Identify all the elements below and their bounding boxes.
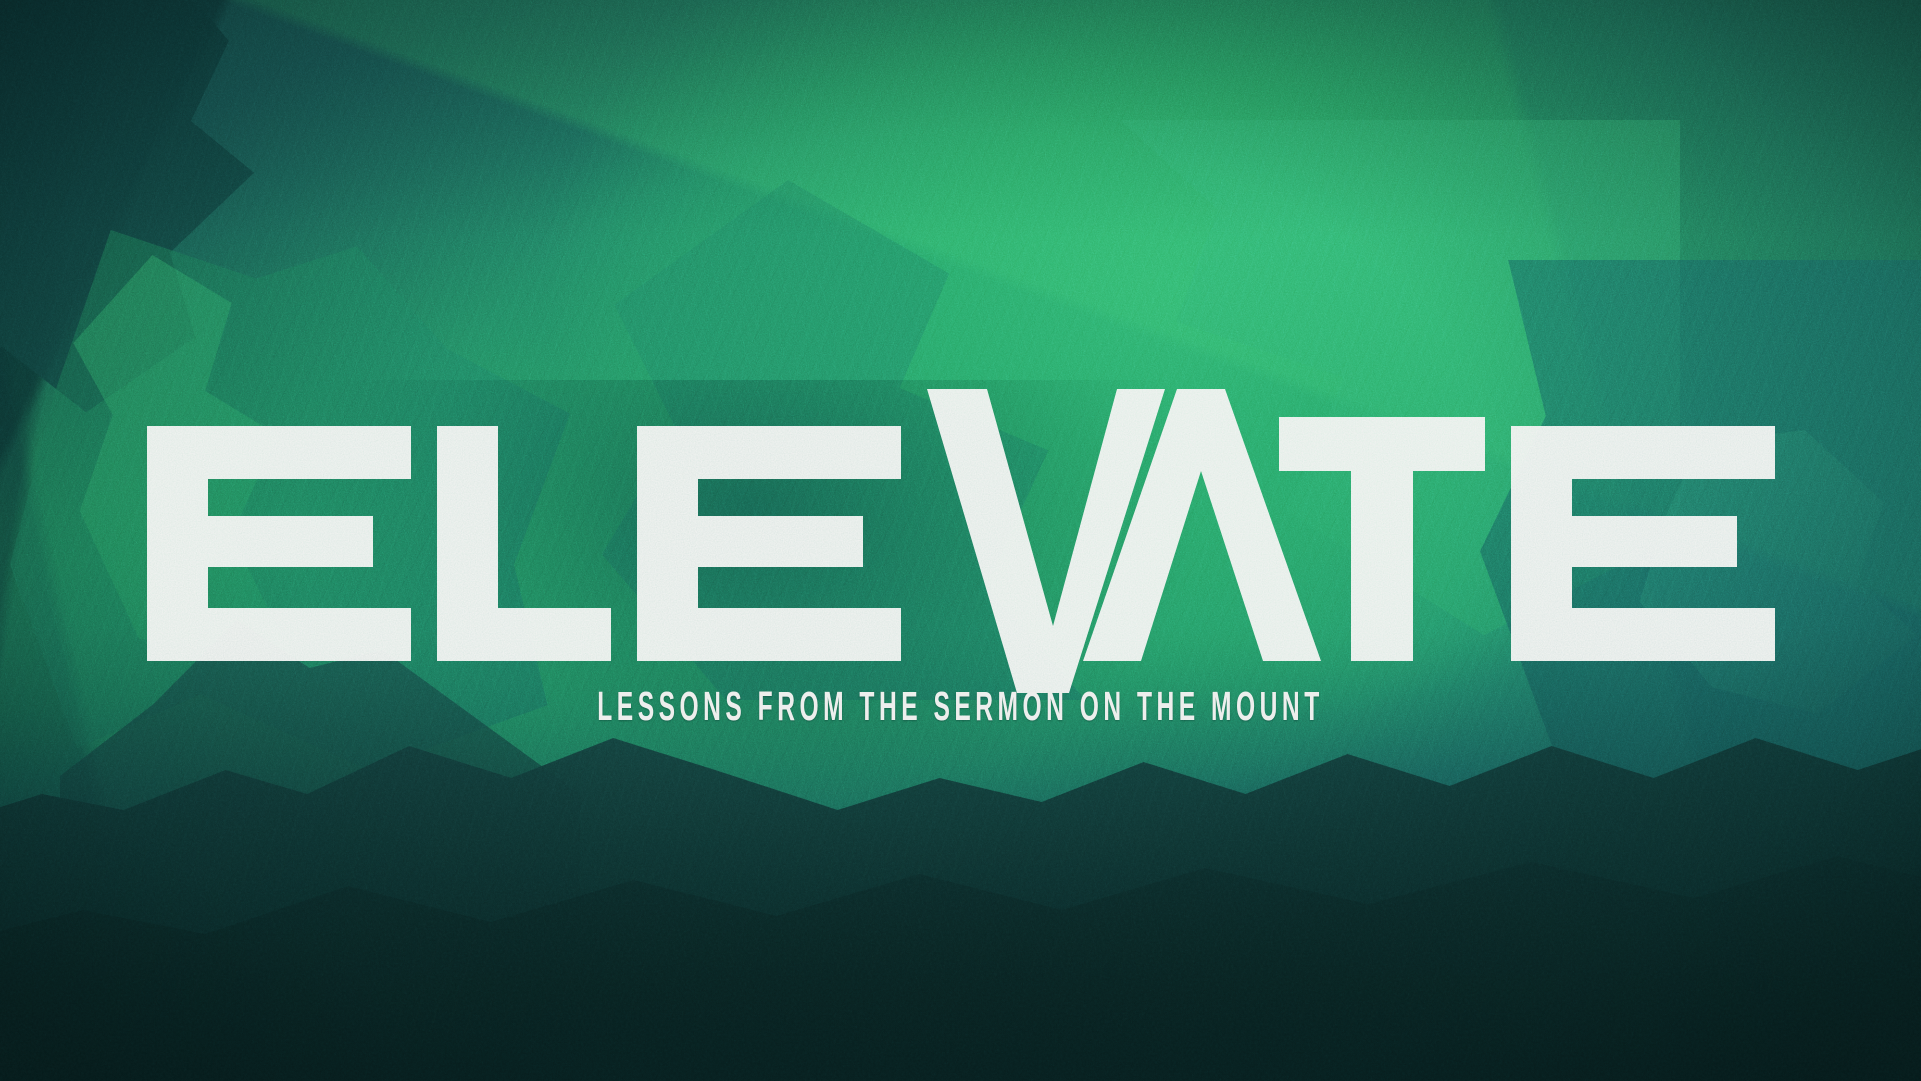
wordmark-letter-e-6 xyxy=(1511,426,1775,661)
wordmark-letter-e-0 xyxy=(147,426,411,661)
series-subtitle: LESSONS FROM THE SERMON ON THE MOUNT xyxy=(384,686,1537,727)
wordmark-letter-e-2 xyxy=(637,426,901,661)
title-slide: LESSONS FROM THE SERMON ON THE MOUNT xyxy=(0,0,1921,1081)
title-content: LESSONS FROM THE SERMON ON THE MOUNT xyxy=(0,0,1921,1081)
elevate-logotype xyxy=(0,371,1921,711)
wordmark-letter-l-1 xyxy=(437,426,611,661)
series-wordmark xyxy=(0,371,1921,711)
wordmark-letter-t-5 xyxy=(1279,417,1485,661)
wordmark-ligature-va xyxy=(927,389,1321,693)
